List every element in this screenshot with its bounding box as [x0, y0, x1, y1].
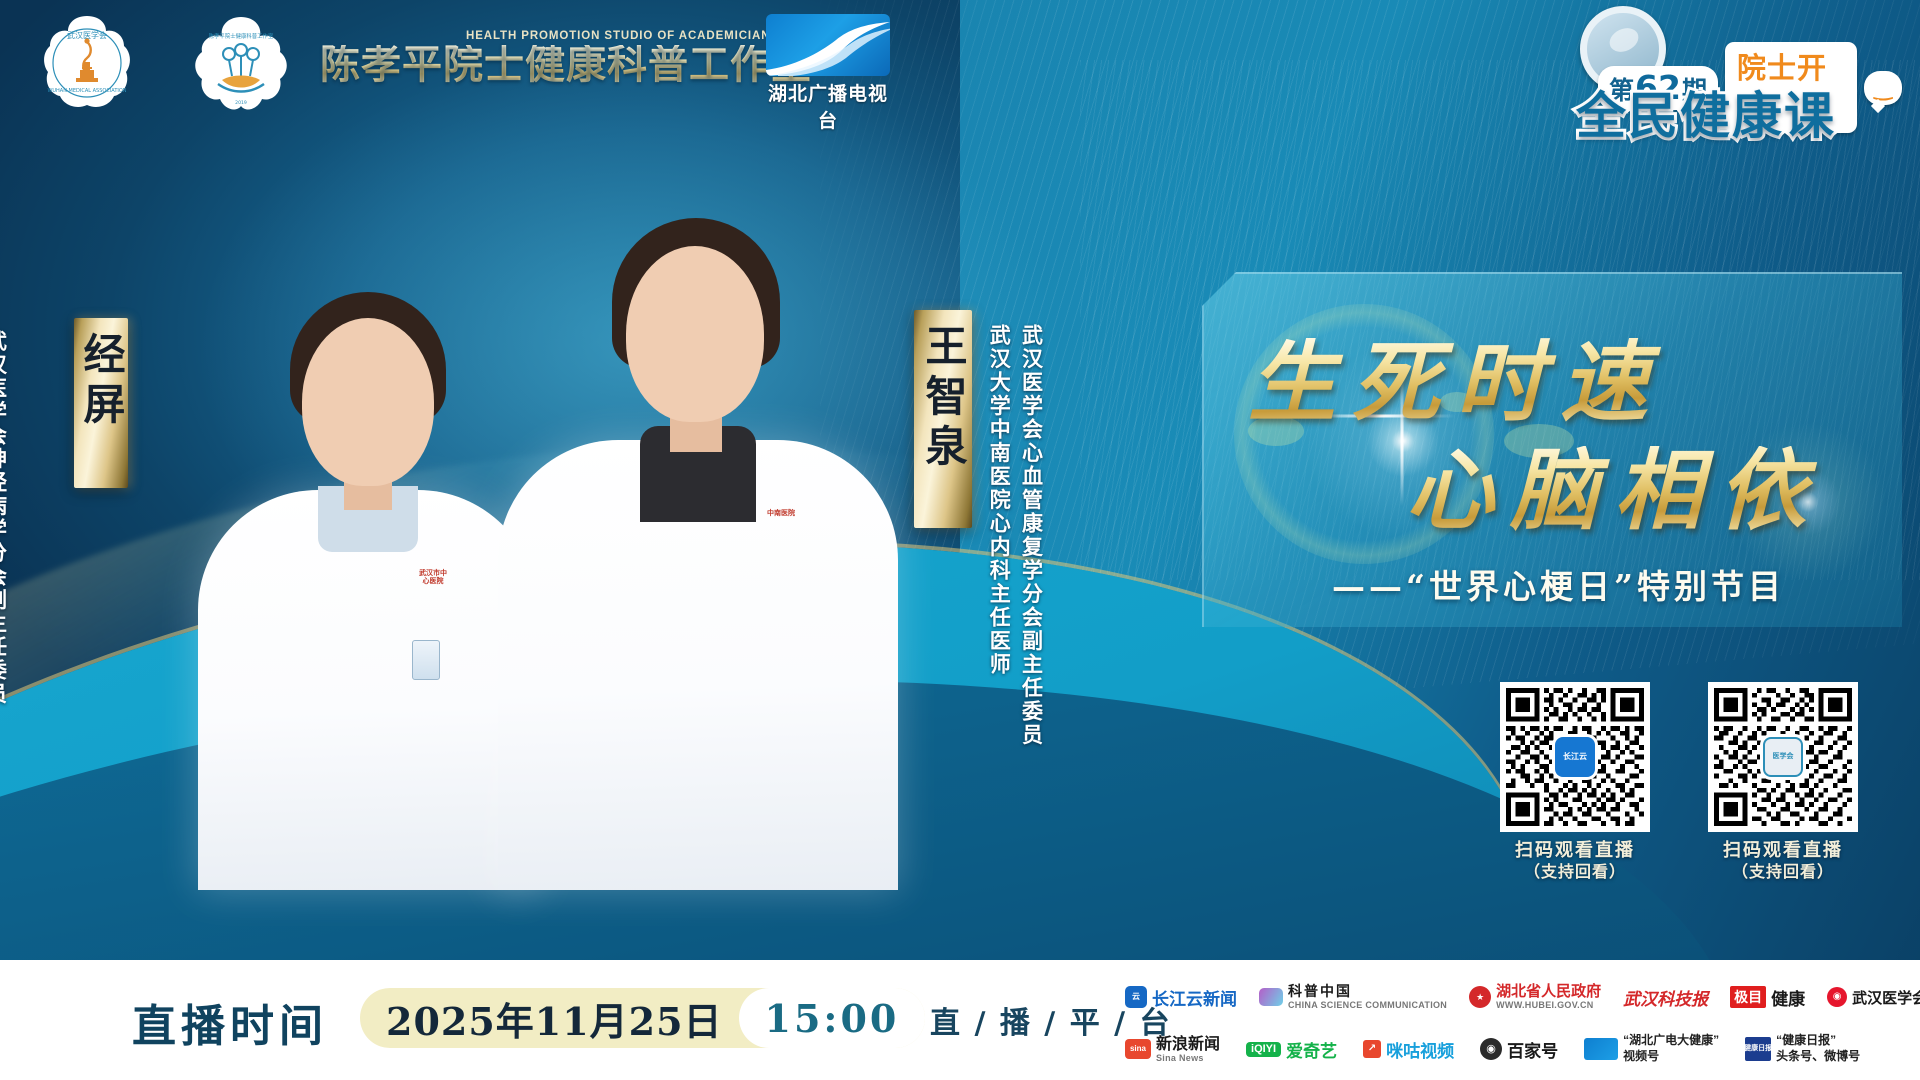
- qr-center-label: 医学会: [1773, 753, 1794, 761]
- platform-hubei-big-health[interactable]: “湖北广电大健康” 视频号: [1584, 1033, 1719, 1064]
- doctor-portrait-left: 武汉市中心医院: [198, 270, 538, 890]
- qr-center-logo-changjiangyun: 长江云: [1555, 737, 1595, 777]
- platform-name: “健康日报”: [1776, 1033, 1860, 1049]
- qr-item-medical-association[interactable]: 医学会 扫码观看直播 （支持回看）: [1708, 682, 1858, 890]
- jimu-box-icon: 极目: [1730, 986, 1766, 1008]
- hubei-tv-mark: [766, 14, 890, 76]
- health-daily-icon: 健康日报: [1745, 1037, 1771, 1061]
- iqiyi-icon: iQIYI: [1246, 1042, 1281, 1057]
- platform-sub: 头条号、微博号: [1776, 1049, 1860, 1065]
- doctor-name-text: 经屏: [80, 332, 122, 432]
- live-date: 2025年11月25日: [386, 991, 723, 1046]
- baijiahao-icon: ◉: [1480, 1038, 1502, 1060]
- qr-caption-main: 扫码观看直播: [1515, 840, 1635, 861]
- doctor-name-text: 王智泉: [922, 324, 964, 474]
- doctor-titles-right: 武汉医学会心血管康复学分会副主任委员 武汉大学中南医院心内科主任医师: [986, 324, 1045, 747]
- smiley-speech-bubble-icon: ‿: [1864, 71, 1902, 105]
- qr-center-label: 长江云: [1563, 753, 1587, 762]
- hubei-tv-logo: 湖北广播电视台: [766, 14, 890, 133]
- platform-logos: 云 长江云新闻 科普中国 CHINA SCIENCE COMMUNICATION…: [1125, 974, 1915, 1072]
- wuhan-medical-association-emblem: 武汉医学会 WUHAN MEDICAL ASSOCIATION: [36, 12, 138, 114]
- doctor-name-right: 王智泉: [914, 310, 972, 528]
- qr-caption-sub: （支持回看）: [1500, 862, 1650, 883]
- platform-row-2: sina 新浪新闻 Sina News iQIYI 爱奇艺 ↗ 咪咕视频 ◉ 百: [1125, 1026, 1915, 1072]
- platform-wuhan-medical-weibo[interactable]: ◉ 武汉医学会微博: [1827, 987, 1920, 1008]
- platform-name: 长江云新闻: [1152, 985, 1237, 1010]
- platform-health-daily[interactable]: 健康日报 “健康日报” 头条号、微博号: [1745, 1033, 1860, 1064]
- smiley-face: ‿: [1864, 71, 1902, 105]
- platform-name: 咪咕视频: [1386, 1037, 1454, 1062]
- qr-caption: 扫码观看直播 （支持回看）: [1500, 839, 1650, 883]
- bottom-bar: 直播时间 2025年11月25日 15:00 直 / 播 / 平 / 台 云 长…: [0, 960, 1920, 1080]
- svg-text:WUHAN MEDICAL ASSOCIATION: WUHAN MEDICAL ASSOCIATION: [47, 88, 126, 94]
- hubei-tv-name: 湖北广播电视台: [766, 79, 890, 133]
- tv-swoosh-icon: [766, 18, 890, 76]
- qr-code-image[interactable]: 医学会: [1708, 682, 1858, 832]
- title-panel: 生死时速 心脑相依 ——“世界心梗日”特别节目: [1202, 272, 1902, 627]
- doctor-title-line: 武汉大学中南医院心内科主任医师: [986, 324, 1012, 747]
- program-title: 全民健康课: [1576, 76, 1836, 148]
- doctor-title-line: 武汉医学会心血管康复学分会副主任委员: [1018, 324, 1044, 747]
- qr-caption: 扫码观看直播 （支持回看）: [1708, 839, 1858, 883]
- hospital-chest-mark: 武汉市中心医院: [416, 570, 450, 592]
- qr-caption-sub: （支持回看）: [1708, 862, 1858, 883]
- platform-name: 科普中国: [1288, 984, 1447, 1000]
- hospital-chest-mark: 中南医院: [764, 510, 798, 532]
- platform-hubei-government[interactable]: ★ 湖北省人民政府 WWW.HUBEI.GOV.CN: [1469, 983, 1601, 1011]
- face: [626, 246, 764, 422]
- platform-name-en: CHINA SCIENCE COMMUNICATION: [1288, 1000, 1447, 1010]
- platform-baijiahao[interactable]: ◉ 百家号: [1480, 1037, 1558, 1062]
- title-line-1: 生死时速: [1248, 338, 1664, 426]
- live-clock: 15:00: [739, 988, 926, 1048]
- platform-iqiyi[interactable]: iQIYI 爱奇艺: [1246, 1037, 1337, 1062]
- platform-sub: 视频号: [1623, 1049, 1719, 1065]
- live-time-label: 直播时间: [132, 990, 328, 1054]
- platform-jimu-health[interactable]: 极目 健康: [1730, 985, 1805, 1010]
- weibo-icon: ◉: [1827, 987, 1847, 1007]
- nameplate-board: 经屏: [74, 318, 128, 488]
- livestream-poster: 武汉医学会 WUHAN MEDICAL ASSOCIATION 陈孝平院士健康科…: [0, 0, 1920, 1080]
- qr-center-logo-medical-association: 医学会: [1763, 737, 1803, 777]
- doctor-titles-left: 武汉医学会神经病学分会副主任委员 武汉市中心医院神经内科主任: [0, 330, 9, 706]
- svg-text:2019: 2019: [235, 100, 247, 106]
- platform-name: 武汉科技报: [1623, 985, 1708, 1010]
- platform-migu-video[interactable]: ↗ 咪咕视频: [1363, 1037, 1454, 1062]
- doctor-portrait-right: 中南医院: [498, 210, 898, 890]
- platform-name: 健康: [1771, 985, 1805, 1010]
- platform-changjiangyun-news[interactable]: 云 长江云新闻: [1125, 985, 1237, 1010]
- platform-name: 新浪新闻: [1156, 1035, 1220, 1053]
- chen-xiaoping-studio-emblem: 陈孝平院士健康科普工作室 2019: [188, 14, 294, 114]
- platform-name: 武汉医学会微博: [1852, 987, 1920, 1008]
- changjiangyun-icon: 云: [1125, 986, 1147, 1008]
- program-badge: 第 62 期 院士开讲 ‿ 全民健康课: [1572, 2, 1902, 132]
- platform-kepu-china[interactable]: 科普中国 CHINA SCIENCE COMMUNICATION: [1259, 984, 1447, 1010]
- hubei-big-health-icon: [1584, 1038, 1618, 1060]
- platform-name-en: WWW.HUBEI.GOV.CN: [1496, 1000, 1601, 1010]
- sina-icon: sina: [1125, 1039, 1151, 1059]
- face: [302, 318, 434, 486]
- platform-name-en: Sina News: [1156, 1053, 1220, 1063]
- id-badge: [412, 640, 440, 680]
- platform-row-1: 云 长江云新闻 科普中国 CHINA SCIENCE COMMUNICATION…: [1125, 974, 1915, 1020]
- doctor-name-left: 经屏: [74, 318, 128, 488]
- kepu-china-icon: [1259, 988, 1283, 1006]
- platform-name: 湖北省人民政府: [1496, 983, 1601, 1000]
- platform-name: 百家号: [1507, 1037, 1558, 1062]
- platform-wuhan-science-news[interactable]: 武汉科技报: [1623, 985, 1708, 1010]
- national-emblem-icon: ★: [1469, 986, 1491, 1008]
- svg-text:陈孝平院士健康科普工作室: 陈孝平院士健康科普工作室: [209, 32, 274, 40]
- migu-arrow-icon: ↗: [1363, 1040, 1381, 1058]
- doctor-portraits: 武汉市中心医院 中南医院: [118, 150, 998, 890]
- title-line-2: 心脑相依: [1406, 446, 1822, 534]
- platform-sina-news[interactable]: sina 新浪新闻 Sina News: [1125, 1035, 1220, 1064]
- qr-code-image[interactable]: 长江云: [1500, 682, 1650, 832]
- qr-code-section: 长江云 扫码观看直播 （支持回看）: [1500, 682, 1900, 890]
- platform-name: 爱奇艺: [1286, 1037, 1337, 1062]
- qr-item-changjiangyun[interactable]: 长江云 扫码观看直播 （支持回看）: [1500, 682, 1650, 890]
- live-time-pill: 2025年11月25日 15:00: [360, 988, 925, 1048]
- doctor-title-line: 武汉医学会神经病学分会副主任委员: [0, 330, 9, 706]
- title-subtitle: ——“世界心梗日”特别节目: [1332, 560, 1785, 608]
- qr-caption-main: 扫码观看直播: [1723, 840, 1843, 861]
- nameplate-board: 王智泉: [914, 310, 972, 528]
- platform-name: “湖北广电大健康”: [1623, 1033, 1719, 1049]
